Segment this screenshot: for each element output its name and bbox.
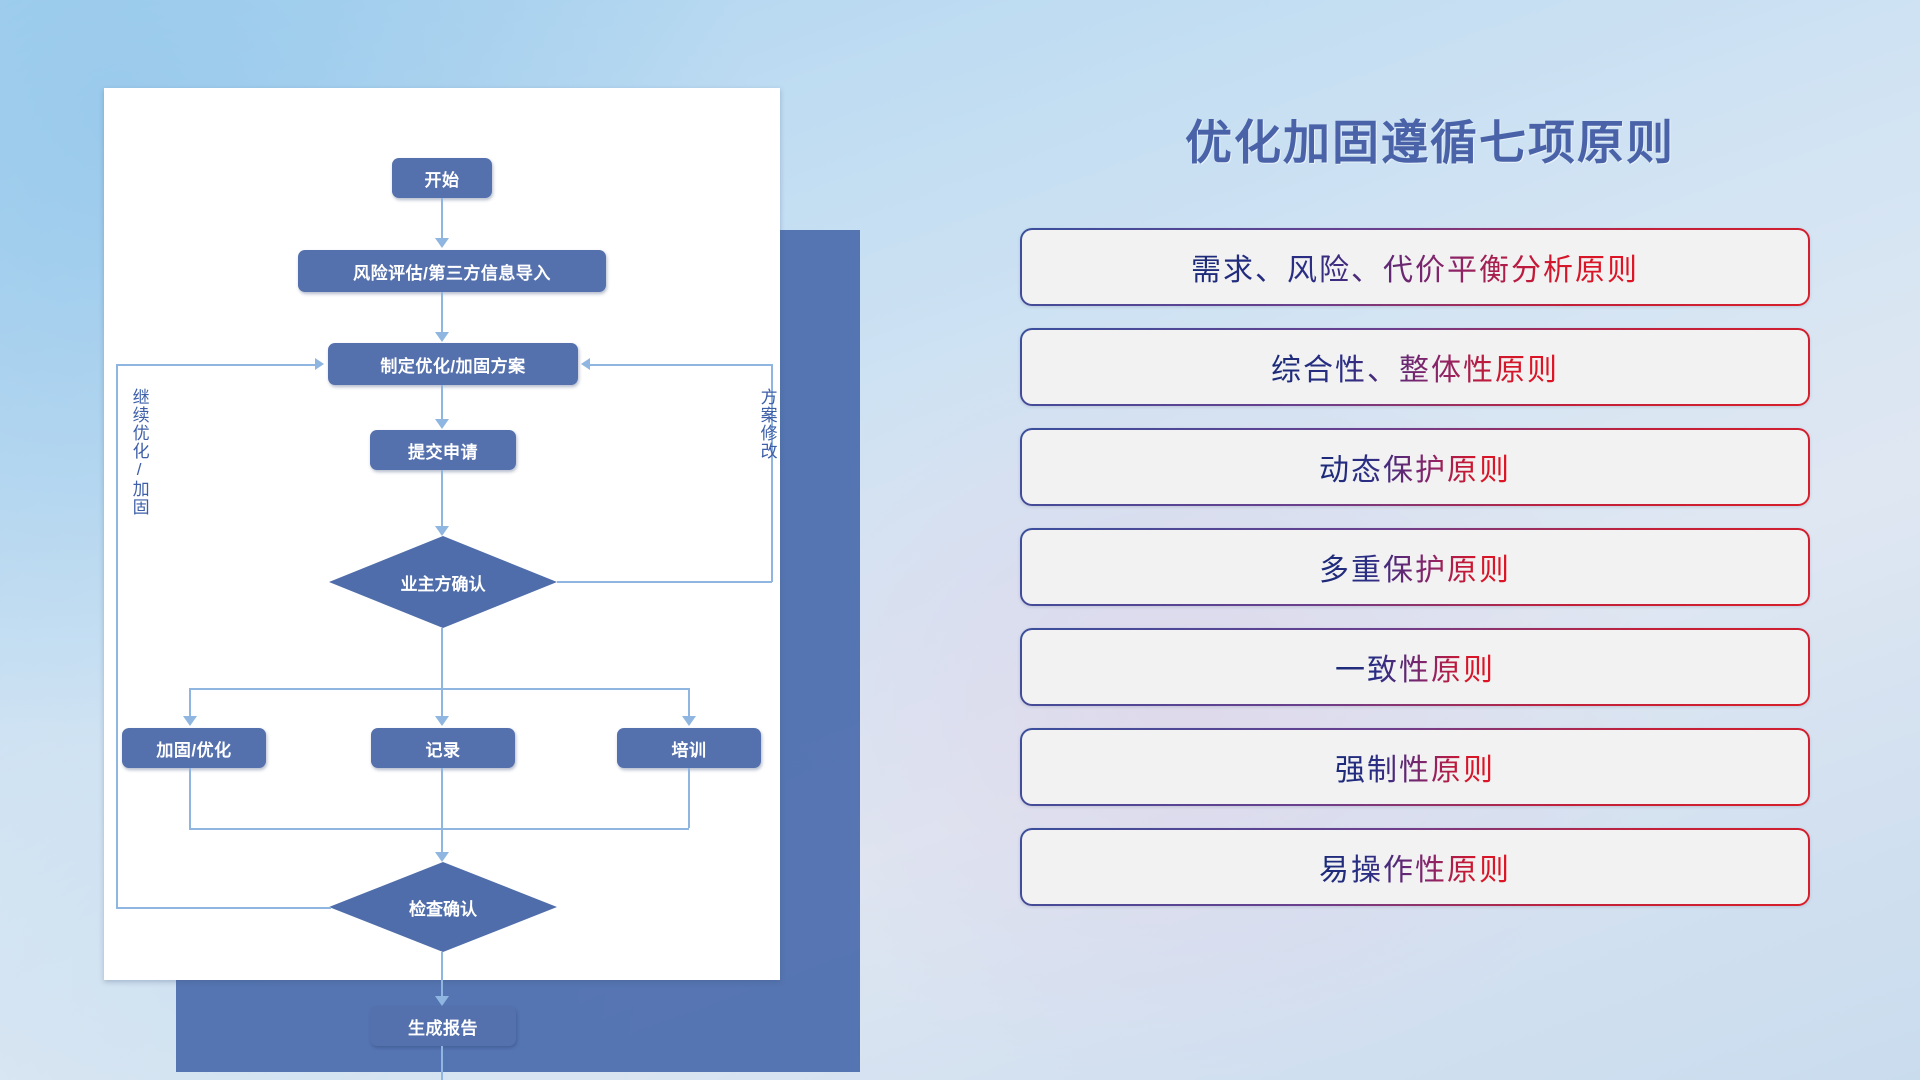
- edge-label-right-loop: 方案修改: [758, 388, 776, 460]
- principle-card-4[interactable]: 多重保护原则: [1020, 528, 1810, 606]
- flow-node-make-plan-label: 制定优化/加固方案: [380, 352, 525, 377]
- connector-left-loop-vertical: [116, 364, 118, 908]
- slide-canvas: 开始 风险评估/第三方信息导入 制定优化/加固方案 提交申请: [0, 0, 1920, 1080]
- flowchart-stage: 开始 风险评估/第三方信息导入 制定优化/加固方案 提交申请: [104, 88, 804, 988]
- arrowhead-branch-right: [682, 716, 696, 726]
- flow-decision-check-confirm-label: 检查确认: [409, 895, 477, 920]
- connector-submit-to-owner-confirm: [441, 470, 443, 530]
- principle-card-6-inner: 强制性原则: [1022, 730, 1808, 804]
- principle-card-6[interactable]: 强制性原则: [1020, 728, 1810, 806]
- principle-card-1-label: 需求、风险、代价平衡分析原则: [1191, 245, 1639, 289]
- principle-card-5-label: 一致性原则: [1335, 645, 1495, 689]
- flow-node-make-plan[interactable]: 制定优化/加固方案: [328, 343, 578, 385]
- principle-card-2[interactable]: 综合性、整体性原则: [1020, 328, 1810, 406]
- principle-card-7-label: 易操作性原则: [1319, 845, 1511, 889]
- flow-decision-check-confirm[interactable]: 检查确认: [329, 862, 557, 952]
- principle-card-7[interactable]: 易操作性原则: [1020, 828, 1810, 906]
- principle-card-1[interactable]: 需求、风险、代价平衡分析原则: [1020, 228, 1810, 306]
- connector-owner-confirm-down: [441, 628, 443, 688]
- flow-node-record[interactable]: 记录: [371, 728, 515, 768]
- connector-check-confirm-to-left-loop: [116, 907, 331, 909]
- principle-card-5-inner: 一致性原则: [1022, 630, 1808, 704]
- flow-node-reinforce-optimize-label: 加固/优化: [156, 736, 231, 761]
- connector-risk-to-plan: [441, 292, 443, 334]
- principle-card-3[interactable]: 动态保护原则: [1020, 428, 1810, 506]
- principle-card-3-label: 动态保护原则: [1319, 445, 1511, 489]
- arrowhead-left-loop-to-plan: [315, 358, 324, 370]
- arrowhead-branch-left: [183, 716, 197, 726]
- connector-branch-bus: [189, 688, 689, 690]
- principles-panel: 优化加固遵循七项原则 需求、风险、代价平衡分析原则 综合性、整体性原则 动态保护…: [1020, 104, 1840, 1024]
- arrowhead-start-to-risk: [435, 238, 449, 248]
- flow-decision-owner-confirm[interactable]: 业主方确认: [329, 536, 557, 628]
- connector-report-to-end: [441, 1046, 443, 1080]
- edge-label-left-loop: 继续优化/加固: [130, 388, 148, 516]
- principle-card-2-label: 综合性、整体性原则: [1271, 345, 1559, 389]
- flow-node-training[interactable]: 培训: [617, 728, 761, 768]
- flow-decision-owner-confirm-label: 业主方确认: [401, 570, 486, 595]
- principle-card-5[interactable]: 一致性原则: [1020, 628, 1810, 706]
- flowchart-card: 开始 风险评估/第三方信息导入 制定优化/加固方案 提交申请: [104, 88, 780, 980]
- arrowhead-risk-to-plan: [435, 332, 449, 342]
- connector-record-to-check: [441, 768, 443, 856]
- arrowhead-submit-to-owner-confirm: [435, 526, 449, 536]
- connector-reinforce-down: [189, 768, 191, 828]
- connector-training-down: [688, 768, 690, 828]
- principle-card-7-inner: 易操作性原则: [1022, 830, 1808, 904]
- flow-node-risk-assessment[interactable]: 风险评估/第三方信息导入: [298, 250, 606, 292]
- connector-check-to-report: [441, 952, 443, 1000]
- connector-plan-to-submit: [441, 385, 443, 423]
- principle-card-2-inner: 综合性、整体性原则: [1022, 330, 1808, 404]
- flow-node-record-label: 记录: [426, 736, 461, 761]
- flow-node-generate-report-label: 生成报告: [408, 1014, 478, 1039]
- flow-node-training-label: 培训: [672, 736, 707, 761]
- principle-card-3-inner: 动态保护原则: [1022, 430, 1808, 504]
- flow-node-generate-report[interactable]: 生成报告: [370, 1006, 516, 1046]
- flow-node-start[interactable]: 开始: [392, 158, 492, 198]
- flow-node-risk-assessment-label: 风险评估/第三方信息导入: [353, 259, 551, 284]
- principle-card-4-inner: 多重保护原则: [1022, 530, 1808, 604]
- arrowhead-right-loop-to-plan: [581, 358, 590, 370]
- principle-card-1-inner: 需求、风险、代价平衡分析原则: [1022, 230, 1808, 304]
- arrowhead-plan-to-submit: [435, 419, 449, 429]
- flow-node-reinforce-optimize[interactable]: 加固/优化: [122, 728, 266, 768]
- arrowhead-check-to-report: [435, 996, 449, 1006]
- arrowhead-to-check-confirm: [435, 852, 449, 862]
- flow-node-start-label: 开始: [425, 166, 460, 191]
- arrowhead-branch-mid: [435, 716, 449, 726]
- connector-left-loop-to-plan: [116, 364, 316, 366]
- connector-right-loop-to-plan: [590, 364, 772, 366]
- flow-node-submit-application-label: 提交申请: [408, 438, 478, 463]
- principle-card-6-label: 强制性原则: [1335, 745, 1495, 789]
- principles-list: 需求、风险、代价平衡分析原则 综合性、整体性原则 动态保护原则 多重保护原则: [1020, 228, 1810, 906]
- principles-panel-title: 优化加固遵循七项原则: [1020, 104, 1840, 173]
- connector-merge-bus: [189, 828, 689, 830]
- connector-owner-confirm-to-right-loop: [557, 581, 772, 583]
- principle-card-4-label: 多重保护原则: [1319, 545, 1511, 589]
- connector-start-to-risk: [441, 198, 443, 240]
- flow-node-submit-application[interactable]: 提交申请: [370, 430, 516, 470]
